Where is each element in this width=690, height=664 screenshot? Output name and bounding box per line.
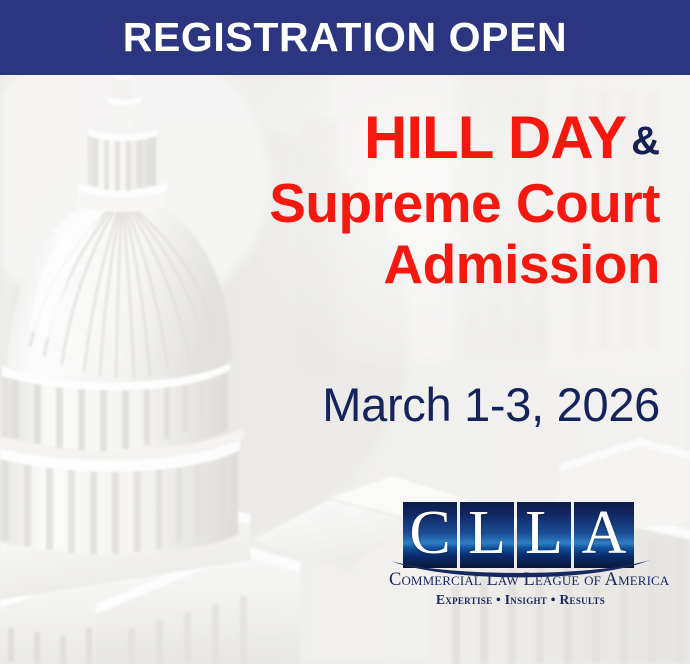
event-date: March 1-3, 2026	[190, 381, 660, 428]
headline-line-2: Supreme Court	[190, 176, 660, 231]
promo-card: REGISTRATION OPEN HILL DAY& Supreme Cour…	[0, 0, 690, 664]
headline-line-1: HILL DAY&	[190, 108, 660, 168]
clla-logo-tagline: Expertise • Insight • Results	[389, 593, 652, 607]
clla-logo-organization-name: Commercial Law League of America	[389, 571, 652, 590]
headline-ampersand: &	[626, 119, 660, 163]
headline-block: HILL DAY& Supreme Court Admission	[190, 108, 660, 292]
headline-hill-day: HILL DAY	[364, 104, 626, 171]
registration-banner-text: REGISTRATION OPEN	[123, 17, 568, 58]
headline-line-3: Admission	[190, 237, 660, 292]
registration-banner: REGISTRATION OPEN	[0, 0, 690, 75]
clla-logo[interactable]: C L L A Commercial Law League of America…	[389, 500, 652, 612]
